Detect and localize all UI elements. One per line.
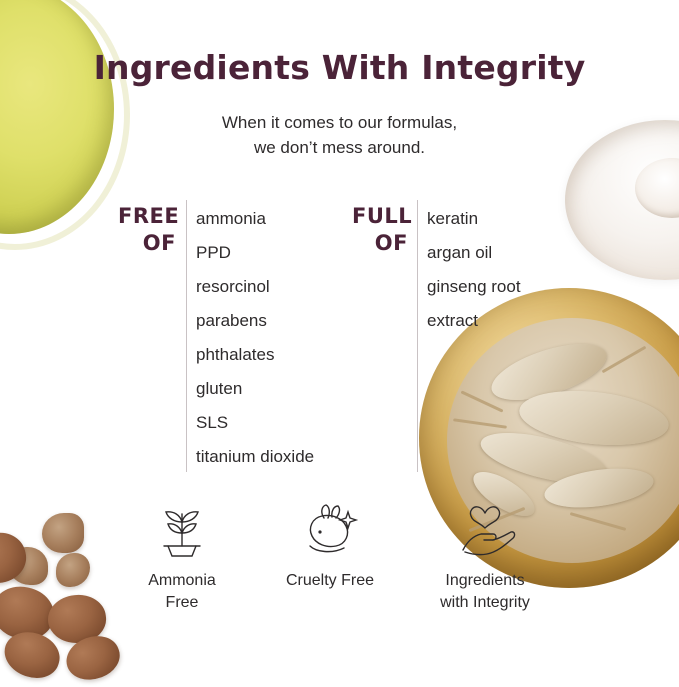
list-item: titanium dioxide bbox=[196, 440, 314, 474]
badge-caption: Ammonia Free bbox=[107, 570, 257, 614]
full-of-label-line-2: OF bbox=[352, 230, 408, 257]
list-item: parabens bbox=[196, 304, 314, 338]
list-item: ammonia bbox=[196, 202, 314, 236]
full-of-divider bbox=[417, 200, 418, 472]
cruelty-free-rabbit-icon bbox=[255, 500, 405, 562]
badge-caption-line-2: Free bbox=[107, 592, 257, 614]
list-item: phthalates bbox=[196, 338, 314, 372]
list-item: resorcinol bbox=[196, 270, 314, 304]
list-item: extract bbox=[427, 304, 521, 338]
badge-caption-line-1: Ammonia bbox=[107, 570, 257, 592]
list-item: keratin bbox=[427, 202, 521, 236]
free-of-label-line-1: FREE bbox=[118, 203, 176, 230]
page-title: Ingredients With Integrity bbox=[0, 48, 679, 87]
subtitle-line-2: we don’t mess around. bbox=[0, 135, 679, 160]
list-item: SLS bbox=[196, 406, 314, 440]
badge-caption-line-2: with Integrity bbox=[410, 592, 560, 614]
free-of-label-line-2: OF bbox=[118, 230, 176, 257]
badge-caption: Cruelty Free bbox=[255, 570, 405, 592]
free-of-label: FREE OF bbox=[118, 203, 176, 257]
list-item: PPD bbox=[196, 236, 314, 270]
list-item: ginseng root bbox=[427, 270, 521, 304]
list-item: argan oil bbox=[427, 236, 521, 270]
list-item: gluten bbox=[196, 372, 314, 406]
badge-ammonia-free: Ammonia Free bbox=[107, 500, 257, 614]
free-of-divider bbox=[186, 200, 187, 472]
free-of-list: ammonia PPD resorcinol parabens phthalat… bbox=[196, 202, 314, 474]
full-of-label-line-1: FULL bbox=[352, 203, 408, 230]
badge-caption-line-1: Cruelty Free bbox=[255, 570, 405, 592]
page-subtitle: When it comes to our formulas, we don’t … bbox=[0, 110, 679, 160]
subtitle-line-1: When it comes to our formulas, bbox=[0, 110, 679, 135]
badge-caption: Ingredients with Integrity bbox=[410, 570, 560, 614]
badge-caption-line-1: Ingredients bbox=[410, 570, 560, 592]
hand-heart-icon bbox=[410, 500, 560, 562]
infographic-content: Ingredients With Integrity When it comes… bbox=[0, 0, 679, 679]
full-of-list: keratin argan oil ginseng root extract bbox=[427, 202, 521, 338]
badge-cruelty-free: Cruelty Free bbox=[255, 500, 405, 592]
full-of-label: FULL OF bbox=[352, 203, 408, 257]
badge-ingredients-with-integrity: Ingredients with Integrity bbox=[410, 500, 560, 614]
plant-sprout-icon bbox=[107, 500, 257, 562]
